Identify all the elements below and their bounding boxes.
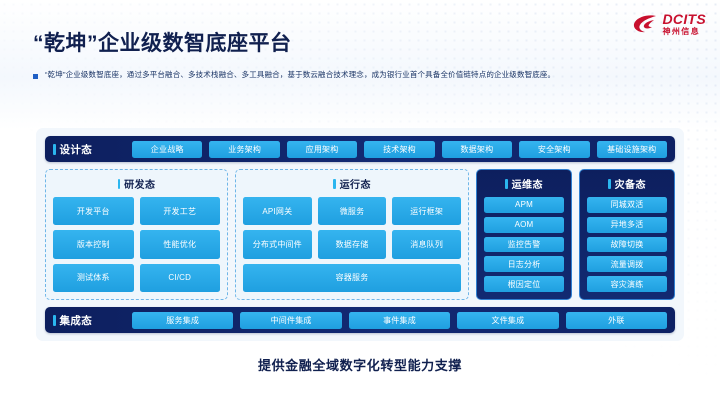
header-background-wash	[0, 0, 720, 130]
ops-tile[interactable]: 根因定位	[484, 276, 564, 292]
research-row: 版本控制性能优化	[53, 230, 220, 258]
brand-logo: DCITS 神州信息	[632, 12, 707, 36]
disaster-recovery-tile[interactable]: 容灾演练	[587, 276, 667, 292]
page-title: “乾坤”企业级数智底座平台	[33, 27, 292, 57]
design-chip[interactable]: 业务架构	[209, 141, 279, 158]
disaster-recovery-panel: 灾备态 同城双活异地多活故障切换流量调拨容灾演练	[579, 169, 675, 300]
runtime-tile[interactable]: 消息队列	[392, 230, 461, 258]
disaster-recovery-row: 同城双活	[587, 197, 667, 213]
ops-row: APM	[484, 197, 564, 213]
runtime-tile[interactable]: 分布式中间件	[243, 230, 312, 258]
runtime-panel-title: 运行态	[340, 176, 371, 191]
runtime-panel-tiles: API网关微服务运行框架分布式中间件数据存储消息队列容器服务	[243, 197, 461, 292]
research-row: 测试体系CI/CD	[53, 264, 220, 292]
ops-panel-header: 运维态	[484, 176, 564, 191]
research-row: 开发平台开发工艺	[53, 197, 220, 225]
ops-panel-title: 运维态	[512, 176, 543, 191]
logo-en-text: DCITS	[663, 12, 707, 26]
ops-tile[interactable]: 监控告警	[484, 237, 564, 253]
design-chip[interactable]: 应用架构	[287, 141, 357, 158]
design-band: 设计态 企业战略业务架构应用架构技术架构数据架构安全架构基础设施架构	[45, 136, 675, 162]
logo-cn-text: 神州信息	[663, 28, 707, 36]
ops-panel-tiles: APMAOM监控告警日志分析根因定位	[484, 197, 564, 292]
disaster-recovery-row: 容灾演练	[587, 276, 667, 292]
ops-tile[interactable]: APM	[484, 197, 564, 213]
runtime-panel: 运行态 API网关微服务运行框架分布式中间件数据存储消息队列容器服务	[235, 169, 469, 300]
research-panel-tiles: 开发平台开发工艺版本控制性能优化测试体系CI/CD	[53, 197, 220, 292]
research-tile[interactable]: 性能优化	[140, 230, 221, 258]
subtitle-text: “乾坤”企业级数智底座，通过多平台融合、多技术栈融合、多工具融合，基于数云融合技…	[45, 70, 555, 81]
disaster-recovery-tile[interactable]: 同城双活	[587, 197, 667, 213]
runtime-row: 容器服务	[243, 264, 461, 292]
integration-chip[interactable]: 中间件集成	[240, 312, 341, 329]
accent-bar-icon	[118, 179, 121, 189]
runtime-tile[interactable]: 数据存储	[318, 230, 387, 258]
design-chip[interactable]: 安全架构	[519, 141, 589, 158]
disaster-recovery-row: 异地多活	[587, 217, 667, 233]
ops-tile[interactable]: 日志分析	[484, 256, 564, 272]
dcits-swoosh-icon	[632, 13, 658, 35]
design-band-title-label: 设计态	[60, 142, 93, 157]
integration-band-title: 集成态	[53, 313, 125, 328]
disaster-recovery-tile[interactable]: 流量调拨	[587, 256, 667, 272]
disaster-recovery-panel-title: 灾备态	[615, 176, 646, 191]
ops-row: 日志分析	[484, 256, 564, 272]
design-chip[interactable]: 技术架构	[364, 141, 434, 158]
disaster-recovery-panel-header: 灾备态	[587, 176, 667, 191]
subtitle-row: “乾坤”企业级数智底座，通过多平台融合、多技术栈融合、多工具融合，基于数云融合技…	[33, 70, 693, 81]
research-panel-header: 研发态	[53, 176, 220, 191]
disaster-recovery-row: 故障切换	[587, 237, 667, 253]
research-tile[interactable]: 版本控制	[53, 230, 134, 258]
integration-chip[interactable]: 外联	[566, 312, 667, 329]
footer-tagline: 提供金融全域数字化转型能力支撑	[0, 355, 720, 374]
accent-bar-icon	[608, 179, 611, 189]
design-chip[interactable]: 基础设施架构	[597, 141, 667, 158]
research-tile[interactable]: CI/CD	[140, 264, 221, 292]
research-tile[interactable]: 测试体系	[53, 264, 134, 292]
disaster-recovery-tile[interactable]: 异地多活	[587, 217, 667, 233]
integration-band-title-label: 集成态	[60, 313, 93, 328]
ops-row: AOM	[484, 217, 564, 233]
diagram-middle-row: 研发态 开发平台开发工艺版本控制性能优化测试体系CI/CD 运行态 API网关微…	[45, 169, 675, 300]
integration-band-items: 服务集成中间件集成事件集成文件集成外联	[132, 312, 667, 329]
accent-bar-icon	[53, 315, 56, 326]
platform-architecture-diagram: 设计态 企业战略业务架构应用架构技术架构数据架构安全架构基础设施架构 研发态 开…	[36, 128, 684, 341]
disaster-recovery-tile[interactable]: 故障切换	[587, 237, 667, 253]
runtime-row: 分布式中间件数据存储消息队列	[243, 230, 461, 258]
runtime-panel-header: 运行态	[243, 176, 461, 191]
accent-bar-icon	[53, 144, 56, 155]
accent-bar-icon	[505, 179, 508, 189]
integration-chip[interactable]: 事件集成	[349, 312, 450, 329]
disaster-recovery-panel-tiles: 同城双活异地多活故障切换流量调拨容灾演练	[587, 197, 667, 292]
ops-tile[interactable]: AOM	[484, 217, 564, 233]
square-bullet-icon	[33, 74, 38, 79]
integration-chip[interactable]: 文件集成	[457, 312, 558, 329]
ops-panel: 运维态 APMAOM监控告警日志分析根因定位	[476, 169, 572, 300]
ops-row: 根因定位	[484, 276, 564, 292]
research-tile[interactable]: 开发平台	[53, 197, 134, 225]
design-chip[interactable]: 企业战略	[132, 141, 202, 158]
runtime-tile[interactable]: 运行框架	[392, 197, 461, 225]
design-band-items: 企业战略业务架构应用架构技术架构数据架构安全架构基础设施架构	[132, 141, 667, 158]
runtime-row: API网关微服务运行框架	[243, 197, 461, 225]
design-chip[interactable]: 数据架构	[442, 141, 512, 158]
accent-bar-icon	[333, 179, 336, 189]
research-tile[interactable]: 开发工艺	[140, 197, 221, 225]
runtime-tile[interactable]: API网关	[243, 197, 312, 225]
research-panel: 研发态 开发平台开发工艺版本控制性能优化测试体系CI/CD	[45, 169, 228, 300]
runtime-tile[interactable]: 微服务	[318, 197, 387, 225]
ops-row: 监控告警	[484, 237, 564, 253]
design-band-title: 设计态	[53, 142, 125, 157]
integration-band: 集成态 服务集成中间件集成事件集成文件集成外联	[45, 307, 675, 333]
disaster-recovery-row: 流量调拨	[587, 256, 667, 272]
integration-chip[interactable]: 服务集成	[132, 312, 233, 329]
runtime-tile[interactable]: 容器服务	[243, 264, 461, 292]
research-panel-title: 研发态	[124, 176, 155, 191]
